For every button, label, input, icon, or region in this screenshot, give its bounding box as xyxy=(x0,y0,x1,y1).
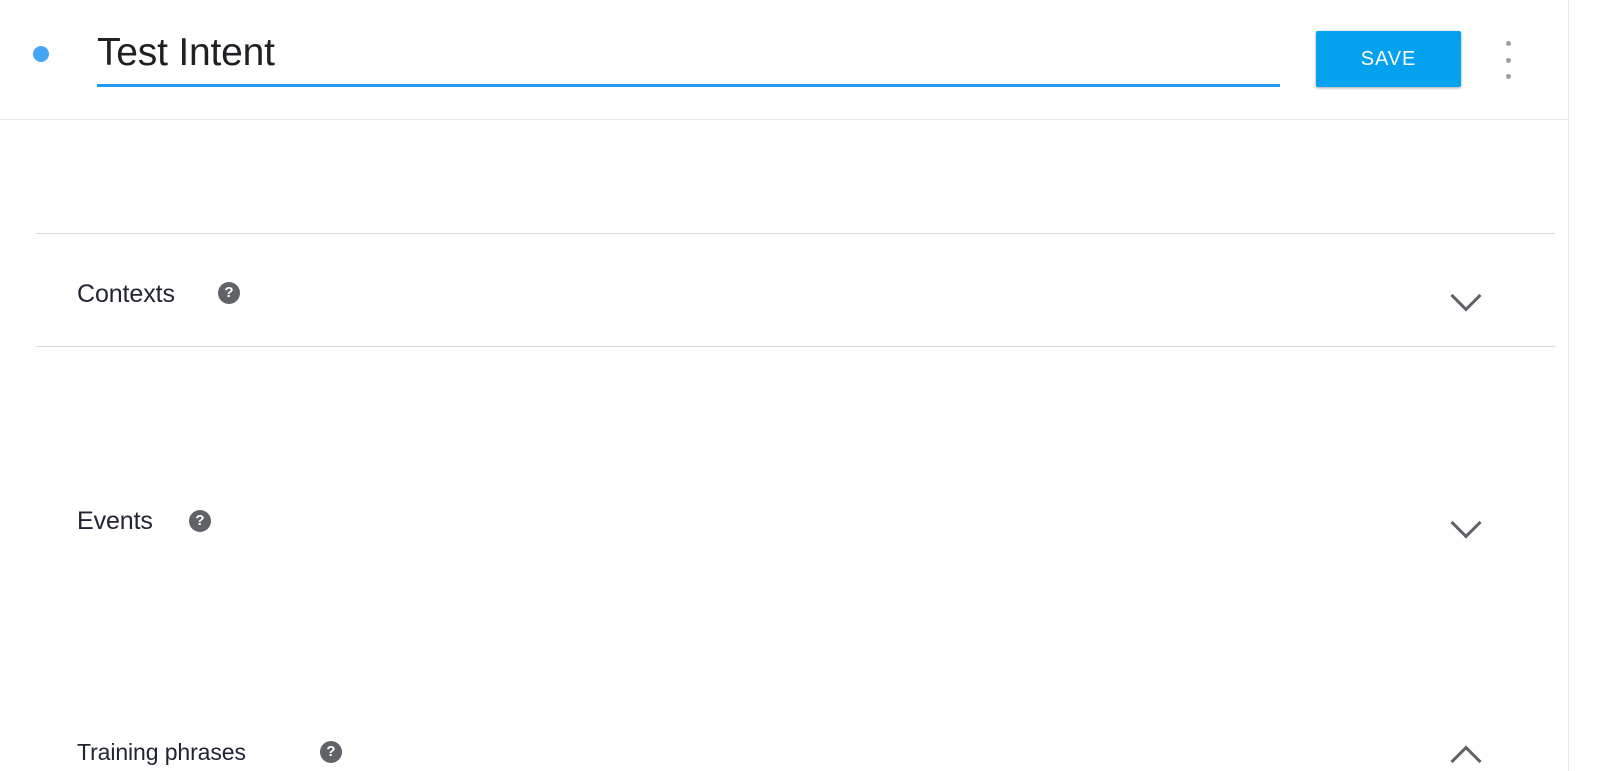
section-events-header[interactable]: Events ? xyxy=(0,234,1568,347)
intent-editor-page: SAVE Contexts ? Events ? Training phrase… xyxy=(0,0,1600,771)
kebab-dot-2 xyxy=(1506,58,1511,63)
intent-header: SAVE xyxy=(0,0,1568,120)
save-button[interactable]: SAVE xyxy=(1316,31,1461,87)
intent-name-input[interactable] xyxy=(97,27,1280,79)
intent-status-dot xyxy=(33,46,49,62)
section-training-phrases[interactable]: Training phrases ? xyxy=(0,347,1568,771)
more-options-icon[interactable] xyxy=(1496,37,1520,83)
section-contexts-header[interactable]: Contexts ? xyxy=(0,120,1568,234)
intent-name-underline xyxy=(97,84,1280,87)
chevron-up-icon[interactable] xyxy=(1449,739,1483,771)
section-events[interactable]: Events ? xyxy=(0,234,1568,347)
intent-name-field-wrapper xyxy=(97,27,1280,79)
kebab-dot-1 xyxy=(1506,41,1511,46)
panel-right-edge xyxy=(1568,0,1569,771)
section-training-phrases-header[interactable]: Training phrases ? xyxy=(0,347,1568,771)
kebab-dot-3 xyxy=(1506,74,1511,79)
help-icon[interactable]: ? xyxy=(320,741,342,763)
section-contexts[interactable]: Contexts ? xyxy=(0,120,1568,234)
section-training-phrases-title: Training phrases xyxy=(77,739,246,766)
